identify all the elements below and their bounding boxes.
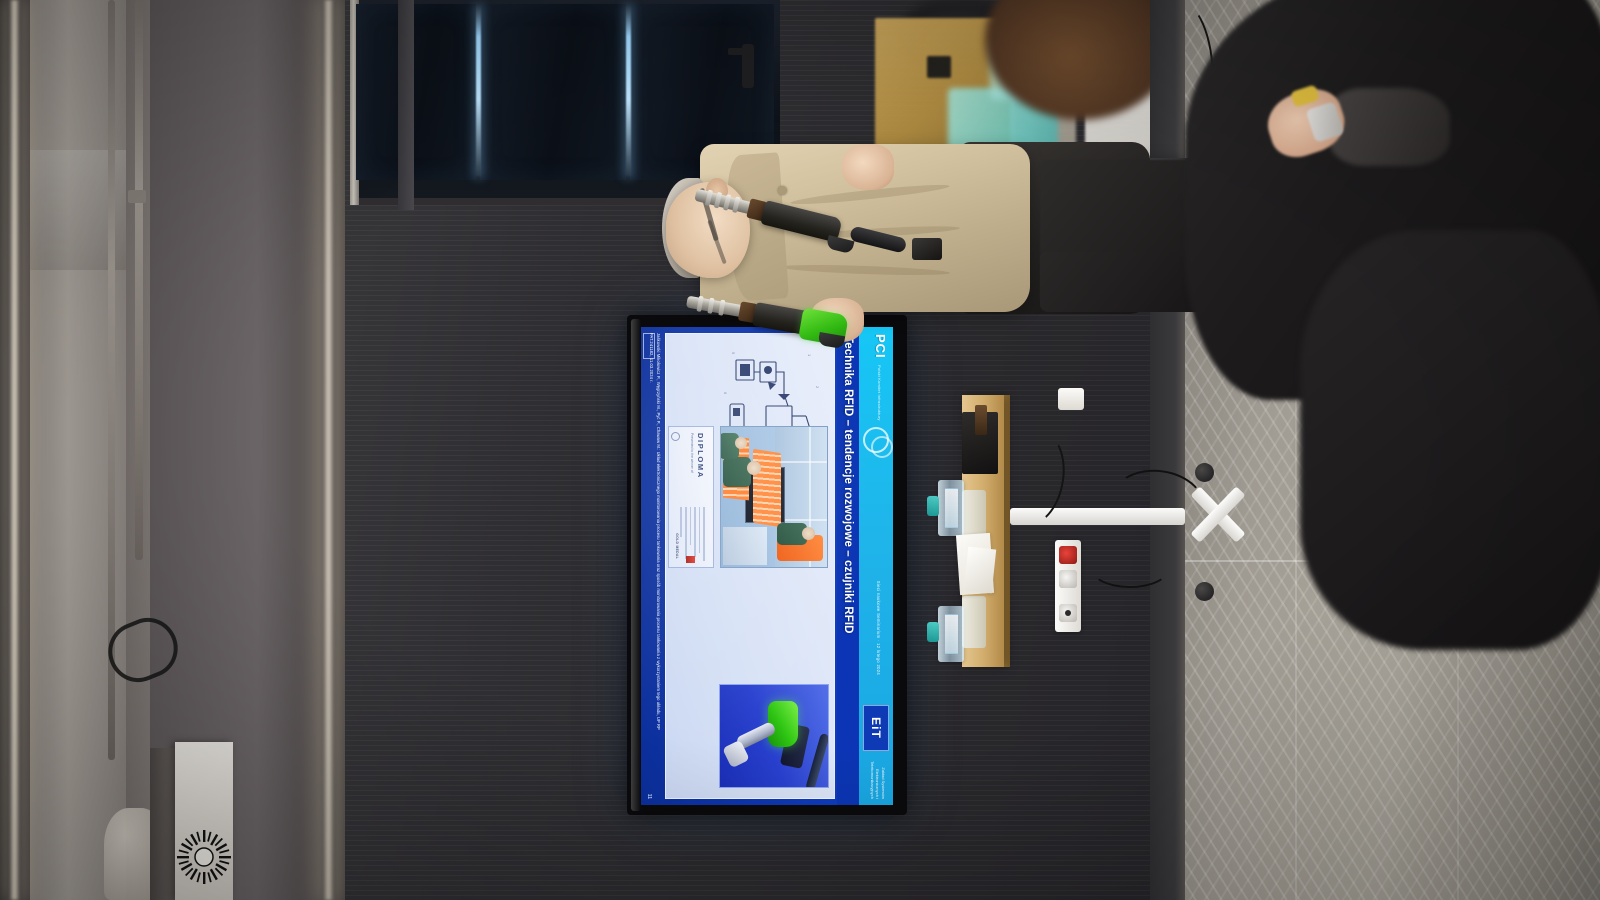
fuel-nozzle-photo — [719, 684, 829, 788]
booth-person — [723, 457, 751, 487]
slide-event-line: Sieci naukowe Seminarium · 12 lutego 202… — [876, 581, 881, 675]
led-light-strip-icon — [322, 0, 335, 900]
blue-edge-light-icon — [476, 6, 481, 176]
diploma-subtitle: Presented to the winner of — [689, 433, 694, 503]
eit-logo: EiT — [863, 705, 889, 751]
jacket-button-icon — [778, 186, 787, 195]
pipe-junction-icon — [128, 190, 146, 203]
diploma-ribbon-icon — [686, 556, 695, 563]
slide-caption: Jaśkowski Mikołowicz P., Węgrzyński M., … — [647, 333, 661, 745]
svg-text:2: 2 — [815, 386, 820, 389]
pci-logo-subtitle: Polski Komitet Infrastruktury — [877, 365, 882, 421]
booth-shelf — [723, 527, 767, 565]
blue-edge-light-icon — [626, 6, 631, 176]
wall-socket-icon[interactable] — [1058, 388, 1084, 410]
slide-title: Technika RFID – tendencje rozwojowe – cz… — [837, 327, 859, 805]
power-socket-icon[interactable] — [1059, 570, 1077, 588]
diploma-award-text: GOLD MEDAL — [675, 533, 679, 559]
foreground-person — [1300, 230, 1600, 650]
water-bottle — [938, 480, 964, 536]
power-strip[interactable] — [1055, 540, 1081, 632]
diploma-title: DIPLOMA — [696, 433, 705, 479]
sunburst-logo-icon — [177, 830, 231, 884]
jacket-fold — [780, 263, 950, 277]
display-screen: PCI Polski Komitet Infrastruktury Sieci … — [641, 327, 893, 805]
department-label: Zakład Systemów Elektronicznych i Teleko… — [869, 753, 886, 799]
slide-number: 11 — [646, 794, 652, 799]
booth-person-head — [735, 437, 747, 449]
power-socket-icon[interactable] — [1059, 604, 1077, 622]
cable-icon — [1090, 548, 1170, 588]
ceiling-sign-panel — [175, 742, 233, 900]
diploma-text-lines — [677, 507, 705, 561]
orange-fan-graphic — [753, 449, 781, 527]
power-socket-icon[interactable] — [1059, 546, 1077, 564]
ring-logo-icon — [863, 427, 889, 453]
bezel-highlight — [631, 319, 641, 811]
sign-side-face — [150, 748, 176, 900]
ceiling-pipe-icon — [135, 0, 143, 560]
caster-wheel-icon — [1195, 463, 1214, 482]
led-light-strip-icon — [8, 0, 21, 900]
caster-wheel-icon — [1195, 582, 1214, 601]
booth-wall-line — [775, 461, 827, 463]
svg-text:1: 1 — [807, 354, 812, 357]
photo-scene: PCI Polski Komitet Infrastruktury Sieci … — [0, 0, 1600, 900]
ceiling-area — [0, 0, 345, 900]
hose-icon — [805, 733, 829, 788]
bottle-cap-icon — [927, 622, 939, 642]
exhibition-photo — [720, 426, 828, 568]
presenter-hand — [842, 144, 894, 190]
bottle-label — [945, 488, 958, 528]
bottle-label — [945, 614, 958, 654]
water-bottle — [938, 606, 964, 662]
booth-person-head — [802, 527, 815, 540]
slide-content: PCI Polski Komitet Infrastruktury Sieci … — [641, 327, 893, 805]
booth-person-head — [747, 461, 761, 475]
presentation-display[interactable]: PCI Polski Komitet Infrastruktury Sieci … — [627, 315, 907, 815]
door-handle-icon[interactable] — [742, 44, 754, 88]
diploma-image: DIPLOMA Presented to the winner of — [668, 426, 714, 568]
microphone-transmitter — [912, 238, 942, 260]
table-clip-icon — [975, 405, 987, 435]
foreground-sleeve — [1330, 88, 1450, 166]
door-frame-post — [398, 0, 414, 210]
svg-text:5: 5 — [731, 352, 736, 355]
slide-header-band: PCI Polski Komitet Infrastruktury Sieci … — [859, 327, 893, 805]
diploma-seal-icon — [671, 432, 680, 441]
glass-pane — [480, 4, 626, 180]
bottle-cap-icon — [927, 496, 939, 516]
glass-pane — [356, 4, 476, 180]
paper-stack — [964, 547, 996, 594]
slide-body-panel: 12 34 56 — [665, 333, 835, 799]
svg-text:6: 6 — [723, 392, 728, 395]
clear-bottle — [962, 596, 986, 648]
